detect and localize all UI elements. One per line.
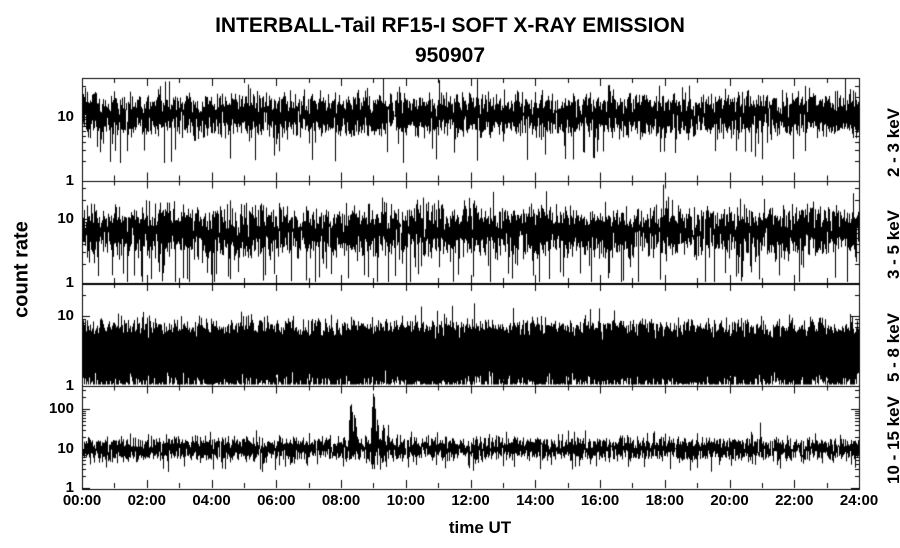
- y-tick-label: 10: [28, 307, 74, 324]
- x-tick-label: 20:00: [695, 492, 765, 509]
- figure-title-line1: INTERBALL-Tail RF15-I SOFT X-RAY EMISSIO…: [0, 14, 900, 38]
- x-tick-label: 02:00: [112, 492, 182, 509]
- y-tick-label: 1: [28, 274, 74, 291]
- panel-energy-label: 5 - 8 keV: [884, 313, 900, 382]
- x-tick-label: 14:00: [500, 492, 570, 509]
- x-tick-label: 04:00: [177, 492, 247, 509]
- x-tick-label: 18:00: [630, 492, 700, 509]
- y-tick-label: 1: [28, 377, 74, 394]
- y-tick-label: 1: [28, 172, 74, 189]
- x-tick-label: 22:00: [759, 492, 829, 509]
- panel-energy-label: 10 - 15 keV: [884, 396, 900, 484]
- x-tick-label: 10:00: [371, 492, 441, 509]
- y-tick-label: 10: [28, 108, 74, 125]
- x-tick-label: 16:00: [565, 492, 635, 509]
- x-tick-label: 24:00: [824, 492, 894, 509]
- y-tick-label: 1: [28, 479, 74, 496]
- panel-energy-label: 3 - 5 keV: [884, 210, 900, 279]
- x-axis-label: time UT: [400, 518, 560, 538]
- x-tick-label: 08:00: [306, 492, 376, 509]
- y-tick-label: 10: [28, 440, 74, 457]
- y-axis-label: count rate: [11, 170, 34, 370]
- panel-energy-label: 2 - 3 keV: [884, 108, 900, 177]
- y-tick-label: 100: [28, 400, 74, 417]
- x-tick-label: 06:00: [241, 492, 311, 509]
- figure-title-line2: 950907: [0, 44, 900, 68]
- x-tick-label: 12:00: [436, 492, 506, 509]
- xray-time-series-figure: [0, 0, 900, 548]
- y-tick-label: 10: [28, 210, 74, 227]
